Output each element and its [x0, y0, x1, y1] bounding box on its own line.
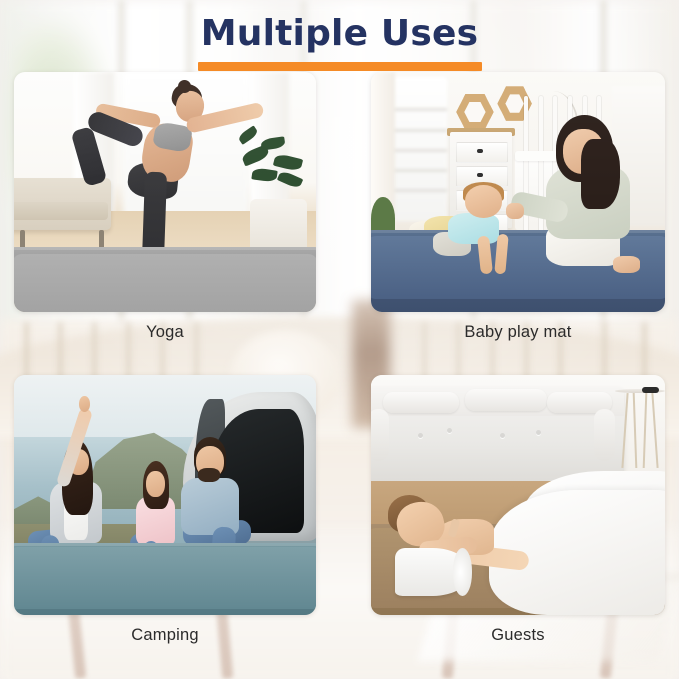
use-case-grid: Yoga — [0, 72, 679, 672]
bolster-pillow — [395, 548, 471, 596]
use-case-card-baby-play-mat[interactable]: Baby play mat — [371, 72, 665, 342]
photo-yoga — [14, 72, 316, 312]
side-table — [615, 389, 665, 471]
floor-mattress-teal — [14, 543, 316, 615]
caption-guests: Guests — [371, 626, 665, 645]
caption-camping: Camping — [14, 626, 316, 645]
caption-baby-play-mat: Baby play mat — [371, 323, 665, 342]
use-case-card-yoga[interactable]: Yoga — [14, 72, 316, 342]
header: Multiple Uses — [0, 14, 679, 54]
hexagon-shelf — [456, 94, 493, 131]
title-underline — [198, 62, 482, 71]
sofa-bolster-pillow — [465, 389, 547, 411]
person-mother — [539, 115, 662, 283]
caption-yoga: Yoga — [14, 323, 316, 342]
photo-baby-play-mat — [371, 72, 665, 312]
use-case-card-camping[interactable]: Camping — [14, 375, 316, 645]
page-title: Multiple Uses — [195, 14, 485, 54]
photo-camping — [14, 375, 316, 615]
photo-guests — [371, 375, 665, 615]
use-case-card-guests[interactable]: Guests — [371, 375, 665, 645]
lamp — [642, 387, 659, 394]
sofa-bolster-pillow — [383, 392, 459, 414]
floor-mattress-gray — [14, 247, 316, 312]
